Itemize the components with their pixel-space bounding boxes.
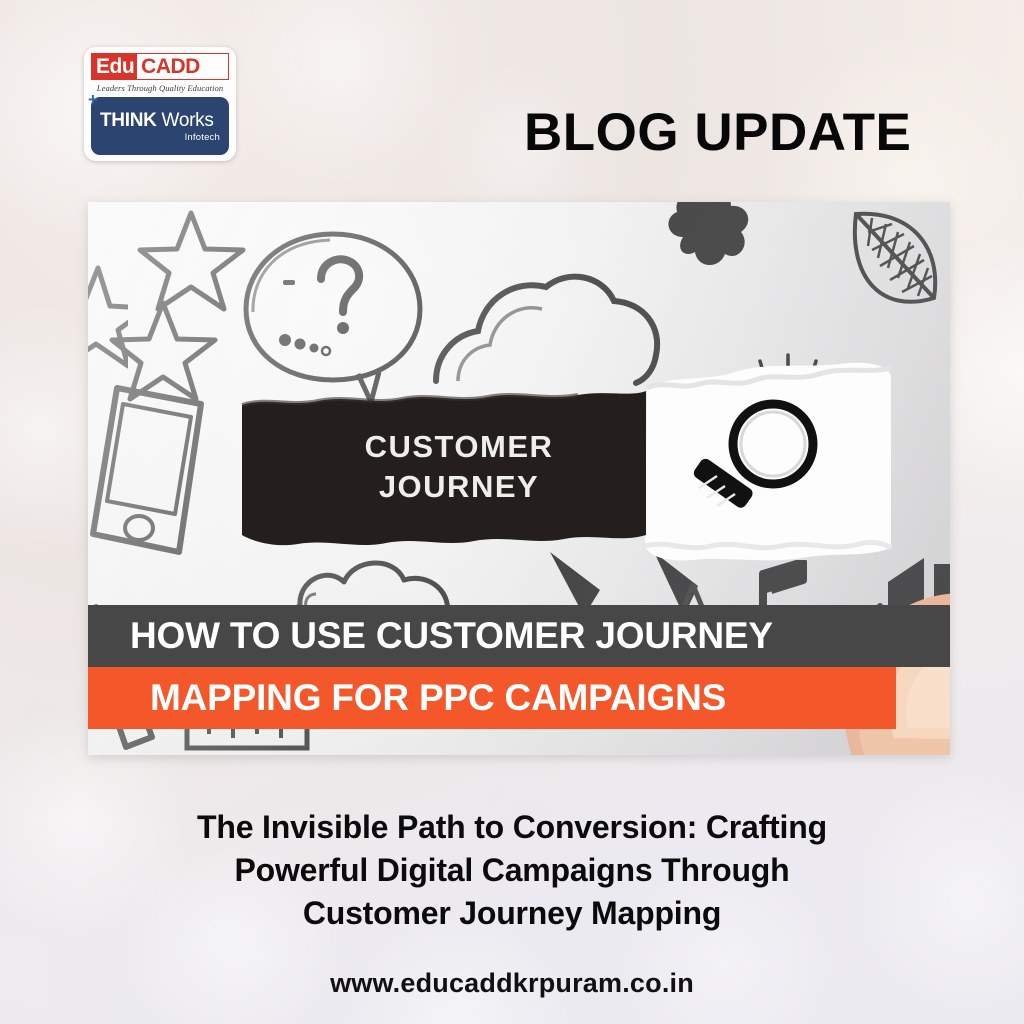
thinkworks-panel: + THINK Works Infotech [91, 97, 229, 155]
plus-icon: + [88, 91, 98, 108]
banner-orange-text: MAPPING FOR PPC CAMPAIGNS [88, 677, 726, 719]
bokeh-circle [210, 0, 470, 190]
logo-cadd-text: CADD [137, 54, 228, 79]
logo-infotech-text: Infotech [100, 132, 220, 143]
page-kicker: BLOG UPDATE [524, 104, 944, 162]
torn-label-text: CUSTOMER JOURNEY [240, 387, 648, 547]
post-title-line-1: The Invisible Path to Conversion: Crafti… [62, 806, 962, 849]
torn-label-strip: CUSTOMER JOURNEY [240, 387, 648, 547]
banner-bar-dark: HOW TO USE CUSTOMER JOURNEY [88, 605, 950, 667]
post-title-line-3: Customer Journey Mapping [62, 892, 962, 935]
torn-label-line1: CUSTOMER [365, 427, 554, 467]
website-url[interactable]: www.educaddkrpuram.co.in [62, 968, 962, 999]
banner-dark-text: HOW TO USE CUSTOMER JOURNEY [88, 615, 773, 657]
post-title: The Invisible Path to Conversion: Crafti… [62, 806, 962, 935]
logo-think-text: THIN [100, 110, 143, 131]
logo-think-k: K [143, 110, 156, 131]
thinkworks-wordmark: THINK Works [100, 110, 220, 131]
logo-works-text: Works [162, 110, 214, 131]
logo-tagline: Leaders Through Quality Education [91, 83, 229, 93]
featured-image: INFO [88, 202, 950, 755]
torn-label-line2: JOURNEY [379, 467, 539, 507]
magnifier-icon [673, 392, 843, 542]
logo-edu-text: Edu [92, 54, 137, 79]
brand-logo[interactable]: Edu CADD Leaders Through Quality Educati… [84, 47, 236, 161]
educadd-wordmark: Edu CADD [91, 53, 229, 80]
post-title-line-2: Powerful Digital Campaigns Through [62, 849, 962, 892]
banner-bar-orange: MAPPING FOR PPC CAMPAIGNS [88, 667, 896, 729]
